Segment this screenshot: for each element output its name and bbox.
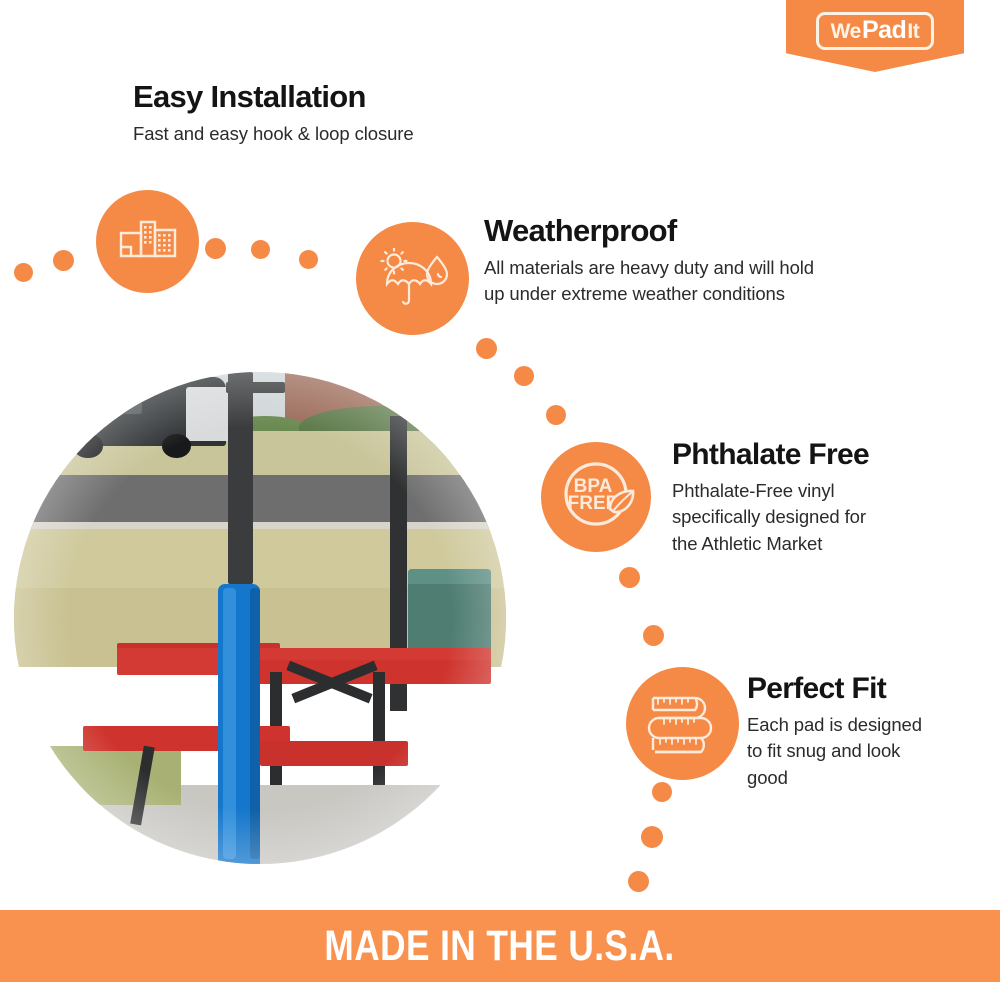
photo-trash-barrel-rim (408, 569, 492, 584)
photo-suv-wheel (162, 434, 192, 459)
product-photo (14, 372, 506, 864)
feature-body-line: to fit snug and look (747, 738, 922, 764)
trail-dot (299, 250, 318, 269)
feature-body-line: the Athletic Market (672, 531, 869, 557)
feature-text-phthalate-free: Phthalate Free Phthalate-Free vinyl spec… (672, 438, 869, 557)
measuring-tape-icon (645, 686, 721, 762)
brand-logo-banner: We Pad It (786, 0, 964, 72)
trail-dot (514, 366, 534, 386)
photo-pad-highlight (223, 588, 236, 859)
trail-dot (53, 250, 74, 271)
photo-suv-window (63, 384, 142, 414)
feature-body-line: All materials are heavy duty and will ho… (484, 255, 814, 281)
feature-body-line: Fast and easy hook & loop closure (133, 121, 414, 147)
bpa-free-leaf-icon: BPA FREE (552, 453, 640, 541)
made-in-usa-banner: MADE IN THE U.S.A. (0, 910, 1000, 982)
trail-dot (628, 871, 649, 892)
feature-body: All materials are heavy duty and will ho… (484, 255, 814, 308)
feature-body-line: Each pad is designed (747, 712, 922, 738)
trail-dot (643, 625, 664, 646)
made-in-usa-text: MADE IN THE U.S.A. (325, 922, 675, 971)
feature-body: Each pad is designed to fit snug and loo… (747, 712, 922, 791)
feature-icon-phthalate-free: BPA FREE (541, 442, 651, 552)
brand-logo-plate: We Pad It (816, 12, 935, 50)
photo-suv-wheel (73, 434, 103, 459)
hook-and-loop-closure-icon (118, 217, 178, 267)
feature-body-line: Phthalate-Free vinyl (672, 478, 869, 504)
feature-icon-easy-installation (96, 190, 199, 293)
feature-text-weatherproof: Weatherproof All materials are heavy dut… (484, 214, 814, 308)
feature-body-line: up under extreme weather conditions (484, 281, 814, 307)
feature-icon-weatherproof (356, 222, 469, 335)
trail-dot (652, 782, 672, 802)
feature-body: Fast and easy hook & loop closure (133, 121, 414, 147)
photo-pole-arm (226, 382, 285, 393)
feature-body-line: specifically designed for (672, 504, 869, 530)
photo-table-leg (373, 672, 385, 785)
feature-title: Easy Installation (133, 80, 414, 114)
feature-body: Phthalate-Free vinyl specifically design… (672, 478, 869, 557)
photo-grass-edge (14, 746, 181, 805)
infographic-canvas: We Pad It (0, 0, 1000, 987)
umbrella-sun-raindrop-icon (377, 248, 449, 310)
feature-title: Weatherproof (484, 214, 814, 248)
trail-dot (476, 338, 497, 359)
photo-pole-upper (228, 372, 253, 584)
trail-dot (205, 238, 226, 259)
photo-bench-near-right (260, 741, 408, 766)
trail-dot (14, 263, 33, 282)
brand-logo-it: It (907, 21, 919, 42)
feature-text-perfect-fit: Perfect Fit Each pad is designed to fit … (747, 672, 922, 791)
photo-curb (14, 522, 506, 529)
photo-pad-shadow (250, 588, 260, 859)
feature-title: Perfect Fit (747, 672, 922, 705)
brand-logo-we: We (831, 21, 861, 42)
feature-text-easy-installation: Easy Installation Fast and easy hook & l… (133, 80, 414, 147)
feature-icon-perfect-fit (626, 667, 739, 780)
brand-logo-pad: Pad (862, 18, 906, 43)
trail-dot (251, 240, 270, 259)
trail-dot (619, 567, 640, 588)
feature-body-line: good (747, 765, 922, 791)
feature-title: Phthalate Free (672, 438, 869, 471)
trail-dot (546, 405, 566, 425)
trail-dot (641, 826, 663, 848)
